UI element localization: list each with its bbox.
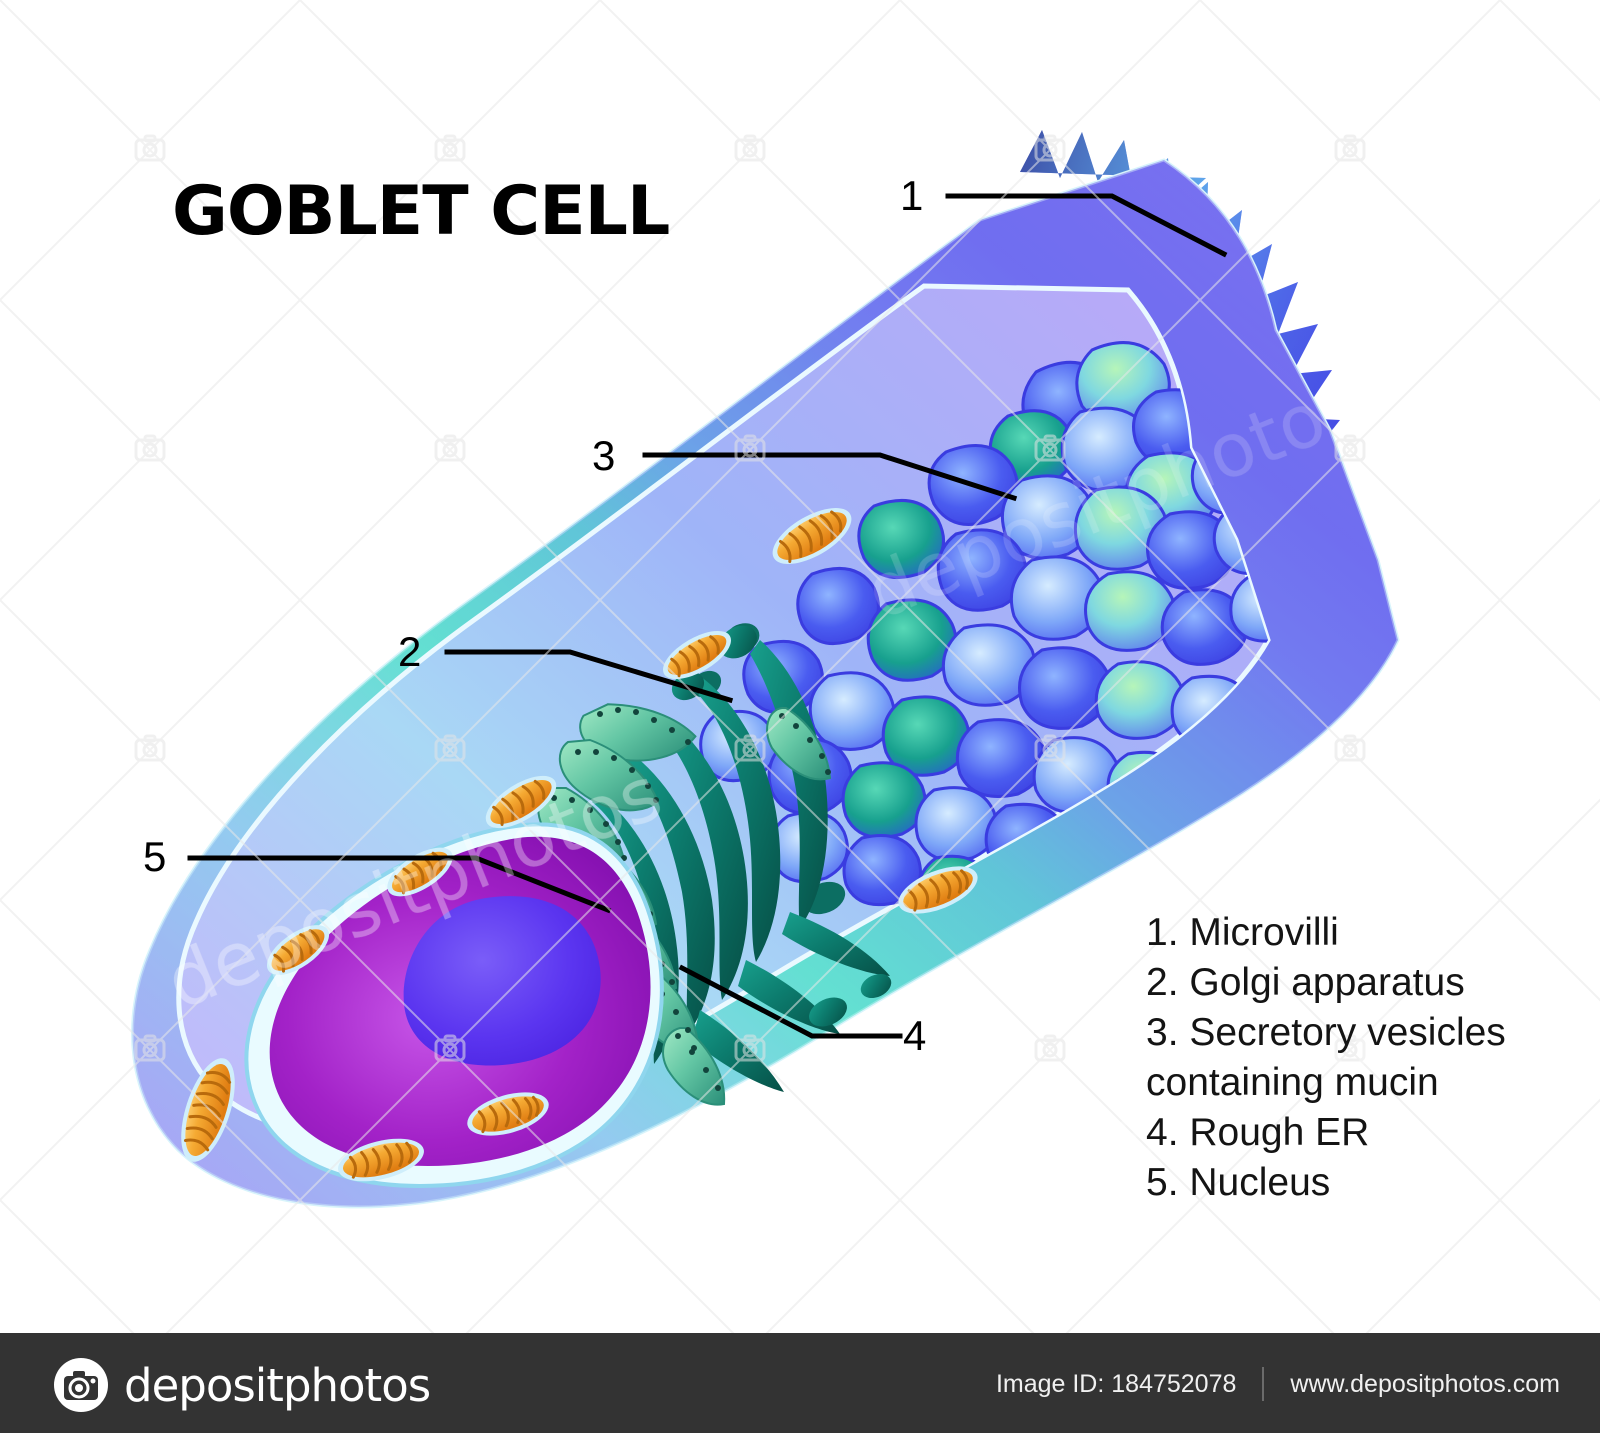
legend-item-5: 5. Nucleus <box>1146 1158 1506 1208</box>
image-id-text: Image ID: 184752078 <box>996 1370 1236 1399</box>
legend-item-4: 4. Rough ER <box>1146 1108 1506 1158</box>
footer-meta: Image ID: 184752078 www.depositphotos.co… <box>996 1367 1560 1401</box>
brand-logo[interactable]: depositphotos <box>52 1356 430 1414</box>
legend-item-2: 2. Golgi apparatus <box>1146 958 1506 1008</box>
legend-item-3: 3. Secretory vesicles <box>1146 1008 1506 1058</box>
callout-number-1: 1 <box>900 172 923 220</box>
camera-icon <box>52 1356 110 1414</box>
diagram-canvas: depositphotos depositphotos depositphoto… <box>0 0 1600 1433</box>
brand-wordmark: depositphotos <box>124 1359 430 1412</box>
callout-number-3: 3 <box>592 432 615 480</box>
callout-number-2: 2 <box>398 628 421 676</box>
page-title: GOBLET CELL <box>172 172 669 251</box>
legend-item-1: 1. Microvilli <box>1146 908 1506 958</box>
footer-divider <box>1262 1367 1264 1401</box>
callout-number-4: 4 <box>903 1012 926 1060</box>
site-url-text[interactable]: www.depositphotos.com <box>1290 1370 1560 1399</box>
legend-item-3-cont: containing mucin <box>1146 1058 1506 1108</box>
footer-bar: depositphotos Image ID: 184752078 www.de… <box>0 1333 1600 1433</box>
callout-number-5: 5 <box>143 833 166 881</box>
legend-list: 1. Microvilli 2. Golgi apparatus 3. Secr… <box>1146 908 1506 1208</box>
